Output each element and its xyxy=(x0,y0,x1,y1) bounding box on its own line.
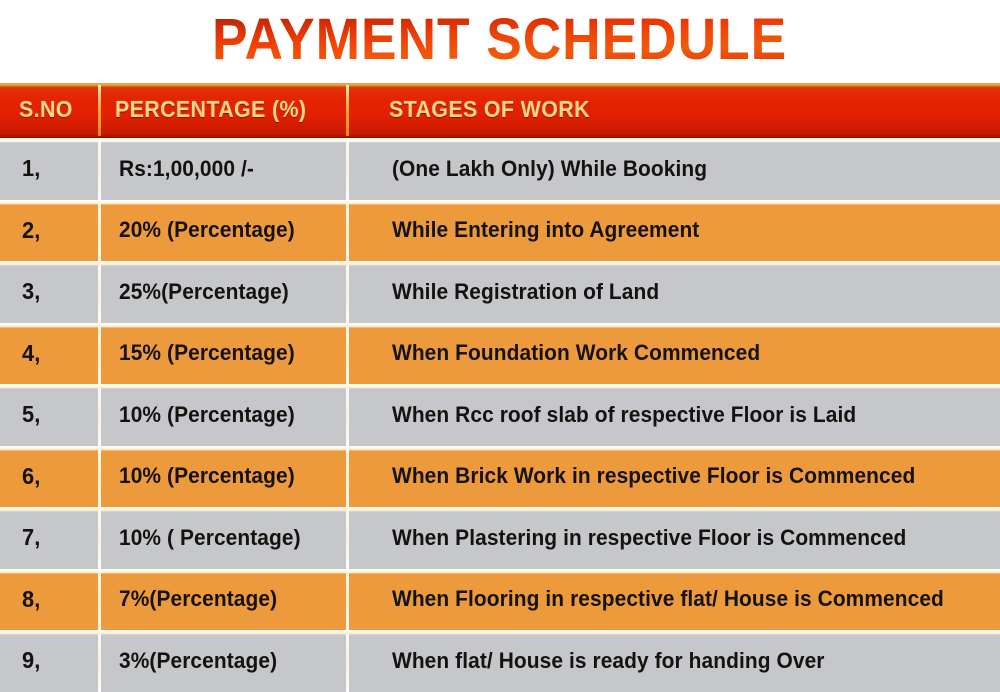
cell-sno-text: 3, xyxy=(22,278,94,305)
cell-stage: (One Lakh Only) While Booking xyxy=(346,138,1000,200)
table-row: 1,Rs:1,00,000 /-(One Lakh Only) While Bo… xyxy=(0,138,1000,200)
cell-pct: 25%(Percentage) xyxy=(98,261,346,323)
cell-stage-text: When flat/ House is ready for handing Ov… xyxy=(392,648,970,674)
cell-stage-text: When Flooring in respective flat/ House … xyxy=(392,586,970,612)
cell-stage-text: When Plastering in respective Floor is C… xyxy=(392,525,970,551)
table-row: 2,20% (Percentage)While Entering into Ag… xyxy=(0,200,1000,262)
cell-pct: 10% ( Percentage) xyxy=(98,507,346,569)
cell-sno-text: 2, xyxy=(22,217,94,244)
cell-stage: While Entering into Agreement xyxy=(346,200,1000,262)
cell-stage: When Foundation Work Commenced xyxy=(346,323,1000,385)
cell-pct-text: 15% (Percentage) xyxy=(119,340,335,366)
cell-stage: When flat/ House is ready for handing Ov… xyxy=(346,630,1000,692)
cell-sno-text: 6, xyxy=(22,463,94,490)
cell-pct: 10% (Percentage) xyxy=(98,384,346,446)
cell-pct-text: 10% (Percentage) xyxy=(119,463,335,489)
cell-pct: Rs:1,00,000 /- xyxy=(98,138,346,200)
cell-stage: When Plastering in respective Floor is C… xyxy=(346,507,1000,569)
column-header-sno-label: S.NO xyxy=(19,96,92,123)
table-header-row: S.NO PERCENTAGE (%) STAGES OF WORK xyxy=(0,83,1000,138)
page-title: PAYMENT SCHEDULE xyxy=(212,11,787,73)
cell-pct: 3%(Percentage) xyxy=(98,630,346,692)
payment-schedule-table: S.NO PERCENTAGE (%) STAGES OF WORK 1,Rs:… xyxy=(0,83,1000,692)
cell-stage-text: When Brick Work in respective Floor is C… xyxy=(392,463,970,489)
cell-sno-text: 9, xyxy=(22,647,94,674)
table-row: 7,10% ( Percentage)When Plastering in re… xyxy=(0,507,1000,569)
table-row: 8,7%(Percentage)When Flooring in respect… xyxy=(0,569,1000,631)
table-header: S.NO PERCENTAGE (%) STAGES OF WORK xyxy=(0,83,1000,138)
cell-pct: 20% (Percentage) xyxy=(98,200,346,262)
table-body: 1,Rs:1,00,000 /-(One Lakh Only) While Bo… xyxy=(0,138,1000,692)
cell-pct-text: 10% (Percentage) xyxy=(119,402,335,428)
cell-stage: While Registration of Land xyxy=(346,261,1000,323)
table-row: 9,3%(Percentage)When flat/ House is read… xyxy=(0,630,1000,692)
cell-stage-text: While Entering into Agreement xyxy=(392,217,970,243)
table-row: 6,10% (Percentage)When Brick Work in res… xyxy=(0,446,1000,508)
cell-pct-text: 7%(Percentage) xyxy=(119,586,335,612)
cell-stage: When Flooring in respective flat/ House … xyxy=(346,569,1000,631)
cell-sno: 7, xyxy=(0,507,98,569)
cell-stage-text: When Rcc roof slab of respective Floor i… xyxy=(392,402,970,428)
column-header-percentage-label: PERCENTAGE (%) xyxy=(115,96,330,123)
cell-sno-text: 8, xyxy=(22,586,94,613)
cell-stage-text: While Registration of Land xyxy=(392,279,970,305)
cell-sno: 2, xyxy=(0,200,98,262)
table-row: 4,15% (Percentage)When Foundation Work C… xyxy=(0,323,1000,385)
cell-pct: 10% (Percentage) xyxy=(98,446,346,508)
title-bar: PAYMENT SCHEDULE xyxy=(0,0,1000,83)
cell-sno-text: 4, xyxy=(22,340,94,367)
cell-sno: 1, xyxy=(0,138,98,200)
cell-sno: 5, xyxy=(0,384,98,446)
cell-stage-text: When Foundation Work Commenced xyxy=(392,340,970,366)
cell-sno-text: 5, xyxy=(22,401,94,428)
cell-stage: When Brick Work in respective Floor is C… xyxy=(346,446,1000,508)
column-header-stages-label: STAGES OF WORK xyxy=(389,96,957,123)
cell-pct: 15% (Percentage) xyxy=(98,323,346,385)
table-row: 5,10% (Percentage)When Rcc roof slab of … xyxy=(0,384,1000,446)
cell-sno: 3, xyxy=(0,261,98,323)
cell-sno-text: 1, xyxy=(22,155,94,182)
cell-pct: 7%(Percentage) xyxy=(98,569,346,631)
cell-pct-text: 10% ( Percentage) xyxy=(119,525,335,551)
cell-stage-text: (One Lakh Only) While Booking xyxy=(392,156,970,182)
cell-pct-text: 25%(Percentage) xyxy=(119,279,335,305)
cell-sno: 6, xyxy=(0,446,98,508)
cell-pct-text: 3%(Percentage) xyxy=(119,648,335,674)
column-header-percentage: PERCENTAGE (%) xyxy=(98,83,346,138)
cell-sno-text: 7, xyxy=(22,524,94,551)
cell-stage: When Rcc roof slab of respective Floor i… xyxy=(346,384,1000,446)
cell-sno: 8, xyxy=(0,569,98,631)
cell-pct-text: Rs:1,00,000 /- xyxy=(119,156,335,182)
column-header-stages: STAGES OF WORK xyxy=(346,83,1000,138)
column-header-sno: S.NO xyxy=(0,83,98,138)
cell-sno: 4, xyxy=(0,323,98,385)
cell-pct-text: 20% (Percentage) xyxy=(119,217,335,243)
table-row: 3,25%(Percentage)While Registration of L… xyxy=(0,261,1000,323)
cell-sno: 9, xyxy=(0,630,98,692)
